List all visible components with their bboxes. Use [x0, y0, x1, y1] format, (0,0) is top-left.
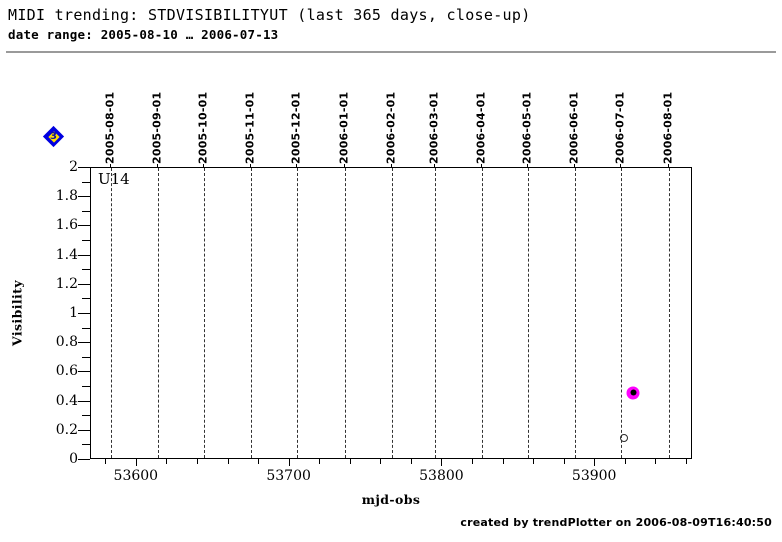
gridline-vertical [251, 168, 252, 458]
gridline-vertical [158, 168, 159, 458]
y-axis-tick-label: 1.4 [6, 248, 78, 262]
x-axis-minor-tick [319, 459, 320, 464]
top-date-label-text: 2006-02-01 [385, 92, 398, 164]
y-axis-tick [78, 371, 90, 372]
y-axis-minor-tick [82, 269, 90, 270]
x-axis-minor-tick [105, 459, 106, 464]
y-axis-tick [78, 342, 90, 343]
top-date-label-text: 2005-09-01 [151, 92, 164, 164]
blue-diamond-marker: 3 [44, 127, 68, 151]
y-axis-tick [78, 313, 90, 314]
y-axis-minor-tick [82, 240, 90, 241]
x-axis-tick [441, 459, 442, 466]
y-axis-minor-tick [82, 298, 90, 299]
data-point [620, 434, 628, 442]
footer-credit: created by trendPlotter on 2006-08-09T16… [460, 516, 772, 529]
x-axis-minor-tick [686, 459, 687, 464]
x-axis-tick [594, 459, 595, 466]
x-axis-tick-label: 53800 [396, 468, 486, 484]
y-axis-tick [78, 255, 90, 256]
x-axis-minor-tick [533, 459, 534, 464]
top-date-label-text: 2006-06-01 [568, 92, 581, 164]
x-axis-minor-tick [564, 459, 565, 464]
top-date-label-text: 2005-08-01 [103, 92, 116, 164]
gridline-vertical [482, 168, 483, 458]
y-axis-tick [78, 225, 90, 226]
x-axis-minor-tick [411, 459, 412, 464]
top-date-label-text: 2006-01-01 [337, 92, 350, 164]
y-axis-minor-tick [82, 444, 90, 445]
date-range-label: date range: 2005-08-10 … 2006-07-13 [8, 27, 278, 42]
y-axis-minor-tick [82, 386, 90, 387]
page-header: MIDI trending: STDVISIBILITYUT (last 365… [0, 0, 782, 52]
x-axis-tick-label: 53700 [244, 468, 334, 484]
gridline-vertical [575, 168, 576, 458]
x-axis-minor-tick [197, 459, 198, 464]
y-axis-tick-label: 1 [6, 306, 78, 320]
gridline-vertical [435, 168, 436, 458]
top-date-label-text: 2006-07-01 [614, 92, 627, 164]
y-axis-tick [78, 401, 90, 402]
x-axis-minor-tick [655, 459, 656, 464]
x-axis-minor-tick [472, 459, 473, 464]
x-axis-minor-tick [350, 459, 351, 464]
page-title: MIDI trending: STDVISIBILITYUT (last 365… [8, 6, 531, 24]
top-date-axis: 2005-08-012005-09-012005-10-012005-11-01… [90, 72, 692, 164]
y-axis-minor-tick [82, 328, 90, 329]
x-axis-tick [289, 459, 290, 466]
y-axis-tick [78, 167, 90, 168]
x-axis-minor-tick [166, 459, 167, 464]
top-date-label-text: 2006-04-01 [475, 92, 488, 164]
gridline-vertical [111, 168, 112, 458]
y-axis-tick [78, 284, 90, 285]
x-axis-minor-tick [228, 459, 229, 464]
y-axis-minor-tick [82, 415, 90, 416]
header-divider [6, 51, 776, 53]
gridline-vertical [669, 168, 670, 458]
gridline-vertical [392, 168, 393, 458]
top-date-label-text: 2006-05-01 [520, 92, 533, 164]
top-date-label-text: 2005-10-01 [197, 92, 210, 164]
y-axis-tick-label: 0.8 [6, 335, 78, 349]
gridline-vertical [345, 168, 346, 458]
top-date-label-text: 2006-08-01 [661, 92, 674, 164]
y-axis-tick-label: 2 [6, 160, 78, 174]
y-axis-tick [78, 196, 90, 197]
x-axis-minor-tick [380, 459, 381, 464]
x-axis-title: mjd-obs [90, 492, 692, 507]
plot-area: U14 [90, 167, 692, 459]
y-axis-tick-label: 0.6 [6, 364, 78, 378]
y-axis-tick-label: 1.2 [6, 277, 78, 291]
gridline-vertical [204, 168, 205, 458]
x-axis-minor-tick [503, 459, 504, 464]
gridline-vertical [528, 168, 529, 458]
data-point [627, 386, 640, 399]
y-axis-minor-tick [82, 182, 90, 183]
top-date-label-text: 2006-03-01 [427, 92, 440, 164]
plot-annotation-label: U14 [97, 172, 131, 187]
gridline-vertical [297, 168, 298, 458]
y-axis-minor-tick [82, 211, 90, 212]
y-axis-tick [78, 430, 90, 431]
y-axis-tick-label: 1.6 [6, 218, 78, 232]
x-axis: mjd-obs 53600537005380053900 [90, 459, 692, 519]
gridline-vertical [621, 168, 622, 458]
diamond-marker-value: 3 [44, 130, 63, 143]
y-axis-tick-label: 0.2 [6, 423, 78, 437]
x-axis-minor-tick [258, 459, 259, 464]
y-axis-tick-label: 1.8 [6, 189, 78, 203]
top-date-label-text: 2005-11-01 [244, 92, 257, 164]
x-axis-minor-tick [625, 459, 626, 464]
y-axis-tick-label: 0.4 [6, 394, 78, 408]
x-axis-tick-label: 53900 [549, 468, 639, 484]
x-axis-tick-label: 53600 [91, 468, 181, 484]
y-axis: Visibility 00.20.40.60.811.21.41.61.82 [0, 167, 78, 459]
y-axis-tick-label: 0 [6, 452, 78, 466]
x-axis-tick [136, 459, 137, 466]
top-date-label-text: 2005-12-01 [290, 92, 303, 164]
y-axis-tick [78, 459, 90, 460]
y-axis-minor-tick [82, 357, 90, 358]
